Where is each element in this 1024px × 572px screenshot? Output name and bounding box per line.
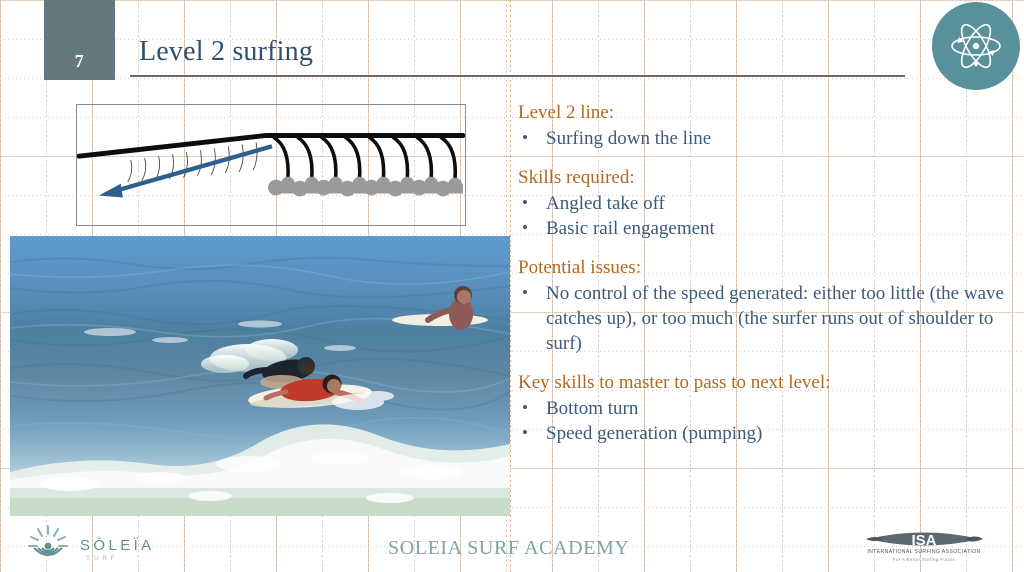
- direction-arrow: [99, 146, 272, 197]
- svg-text:INTERNATIONAL SURFING ASSOCIAT: INTERNATIONAL SURFING ASSOCIATION: [867, 549, 980, 555]
- svg-text:SŌLEÏA: SŌLEÏA: [80, 537, 155, 554]
- content-block-level2line: Level 2 line: Surfing down the line: [518, 100, 1018, 151]
- footer-academy-text: SOLEIA SURF ACADEMY: [388, 537, 629, 560]
- slide-canvas: 7 Level 2 surfing: [0, 0, 1024, 572]
- list-item: Surfing down the line: [518, 126, 1018, 151]
- block-heading: Potential issues:: [518, 255, 1018, 281]
- content-column: Level 2 line: Surfing down the line Skil…: [518, 100, 1018, 460]
- whitewater-foam: [268, 177, 463, 197]
- bullet-list: No control of the speed generated: eithe…: [518, 281, 1018, 356]
- list-item: Basic rail engagement: [518, 216, 1018, 241]
- block-heading: Skills required:: [518, 165, 1018, 191]
- list-item: Speed generation (pumping): [518, 421, 1018, 446]
- content-block-key-skills: Key skills to master to pass to next lev…: [518, 370, 1018, 446]
- block-heading: Key skills to master to pass to next lev…: [518, 370, 1018, 396]
- list-item: Angled take off: [518, 191, 1018, 216]
- wave-line-diagram: [76, 104, 466, 226]
- title-underline: [130, 75, 905, 77]
- page-number: 7: [75, 51, 85, 72]
- bullet-list: Bottom turn Speed generation (pumping): [518, 396, 1018, 446]
- surfing-photo: [10, 236, 510, 516]
- page-number-badge: 7: [44, 0, 115, 80]
- bullet-list: Angled take off Basic rail engagement: [518, 191, 1018, 241]
- list-item: Bottom turn: [518, 396, 1018, 421]
- isa-logo: ISA INTERNATIONAL SURFING ASSOCIATION Fo…: [864, 526, 984, 566]
- content-block-potential-issues: Potential issues: No control of the spee…: [518, 255, 1018, 356]
- grid-accent-line: [510, 0, 511, 572]
- page-title: Level 2 surfing: [139, 36, 313, 68]
- svg-text:For A Better Surfing Future: For A Better Surfing Future: [893, 557, 956, 562]
- block-heading: Level 2 line:: [518, 100, 1018, 126]
- bullet-list: Surfing down the line: [518, 126, 1018, 151]
- atom-icon: [932, 2, 1020, 90]
- svg-text:ISA: ISA: [911, 532, 936, 549]
- svg-text:SURF: SURF: [86, 556, 118, 562]
- content-block-skills-required: Skills required: Angled take off Basic r…: [518, 165, 1018, 241]
- list-item: No control of the speed generated: eithe…: [518, 281, 1018, 356]
- soleia-surf-logo: SŌLEÏA SURF: [28, 524, 163, 566]
